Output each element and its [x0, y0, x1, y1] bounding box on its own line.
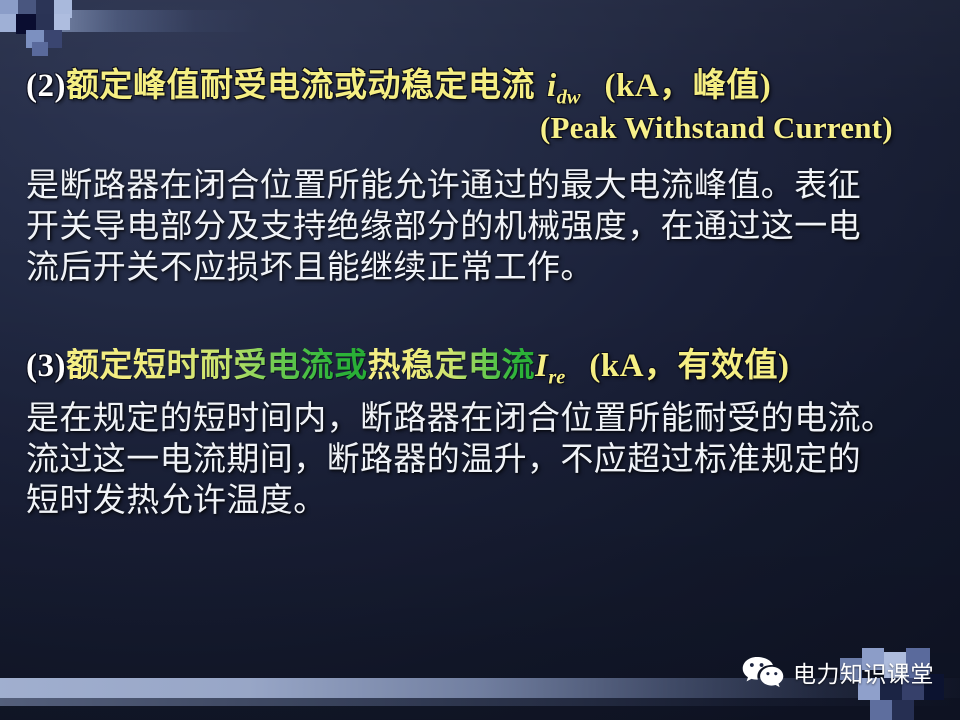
- section2-heading: (2)额定峰值耐受电流或动稳定电流idw(kA，峰值): [26, 58, 771, 110]
- section2-unit-note: (kA，峰值): [605, 68, 772, 104]
- wechat-icon: [742, 655, 784, 689]
- section3-title-part2: 热稳定电流: [367, 348, 535, 384]
- watermark-label: 电力知识课堂: [793, 655, 934, 689]
- section3-body-line-3: 短时发热允许温度。: [26, 473, 327, 521]
- section3-number: (3): [26, 348, 66, 384]
- section2-symbol-subscript: dw: [557, 87, 581, 109]
- section3-unit-note: (kA，有效值): [589, 348, 789, 384]
- section2-title-cn: 额定峰值耐受电流或动稳定电流: [66, 68, 535, 104]
- section2-title-en: (Peak Withstand Current): [540, 110, 893, 146]
- section3-symbol-subscript: re: [548, 367, 565, 389]
- section3-heading: (3)额定短时耐受电流或热稳定电流Ire(kA，有效值): [26, 338, 790, 390]
- section2-body-line-3: 流后开关不应损坏且能继续正常工作。: [26, 240, 594, 288]
- section2-symbol: i: [547, 68, 557, 104]
- section3-symbol: I: [535, 348, 548, 384]
- wechat-watermark: 电力知识课堂: [742, 655, 934, 689]
- presentation-slide: (2)额定峰值耐受电流或动稳定电流idw(kA，峰值) (Peak Withst…: [0, 0, 960, 720]
- section3-title-part1: 额定短时耐受电流或: [66, 348, 368, 384]
- section2-number: (2): [26, 68, 66, 104]
